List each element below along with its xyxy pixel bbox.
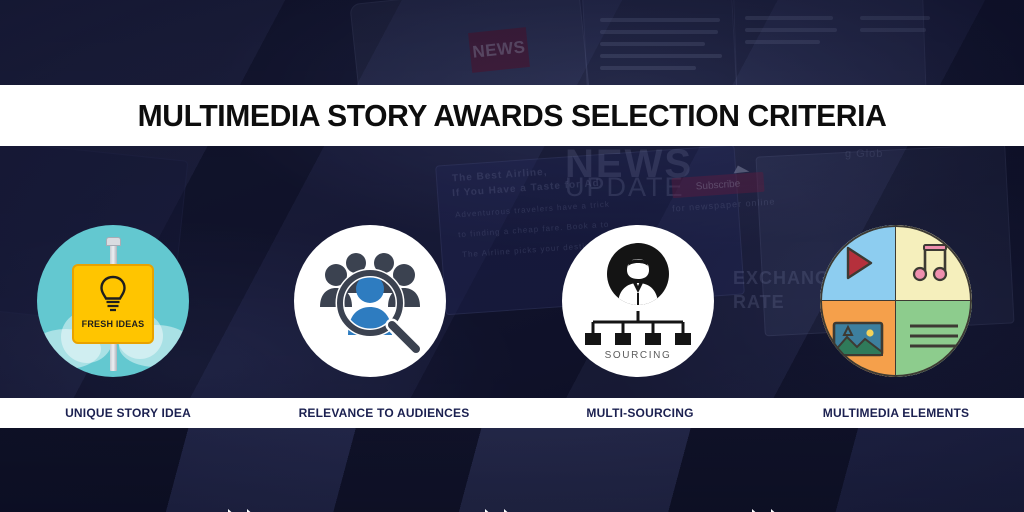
- sourcing-caption: SOURCING: [605, 350, 672, 361]
- step-icon-multimedia-elements[interactable]: [820, 225, 972, 377]
- step-label-unique-story-idea: UNIQUE STORY IDEA: [0, 406, 256, 420]
- arrow-step-2-to-3: [485, 508, 531, 512]
- step-label-multimedia-elements: MULTIMEDIA ELEMENTS: [768, 406, 1024, 420]
- step-labels-strip: UNIQUE STORY IDEA RELEVANCE TO AUDIENCES…: [0, 398, 1024, 428]
- arrow-step-3-to-4: [752, 508, 798, 512]
- audience-magnifier-icon: [294, 225, 446, 377]
- title-band: MULTIMEDIA STORY AWARDS SELECTION CRITER…: [0, 85, 1024, 146]
- step-icon-relevance-to-audiences[interactable]: [294, 225, 446, 377]
- infographic-canvas: NEWS NEWS UPDATE Subscribe for newspaper…: [0, 0, 1024, 512]
- sign-label: FRESH IDEAS: [82, 319, 145, 329]
- step-icon-multi-sourcing[interactable]: SOURCING: [562, 225, 714, 377]
- page-title: MULTIMEDIA STORY AWARDS SELECTION CRITER…: [138, 98, 887, 134]
- audience-magnifier-glyph: [310, 245, 430, 357]
- step-icon-unique-story-idea[interactable]: FRESH IDEAS: [37, 225, 189, 377]
- step-label-multi-sourcing: MULTI-SOURCING: [512, 406, 768, 420]
- person-avatar-icon: [607, 243, 669, 305]
- quadrant-outline: [820, 225, 972, 377]
- arrow-step-1-to-2: [228, 508, 274, 512]
- signpost-cap: [106, 237, 121, 246]
- hierarchy-tree-icon: [582, 311, 694, 345]
- road-sign: FRESH IDEAS: [72, 264, 154, 344]
- media-quadrant-icon: [820, 225, 972, 377]
- sourcing-hierarchy-icon: SOURCING: [562, 225, 714, 377]
- steps-row: FRESH IDEAS: [0, 225, 1024, 377]
- person-glyph: [612, 253, 664, 305]
- step-label-relevance-to-audiences: RELEVANCE TO AUDIENCES: [256, 406, 512, 420]
- lightbulb-icon: [98, 275, 128, 315]
